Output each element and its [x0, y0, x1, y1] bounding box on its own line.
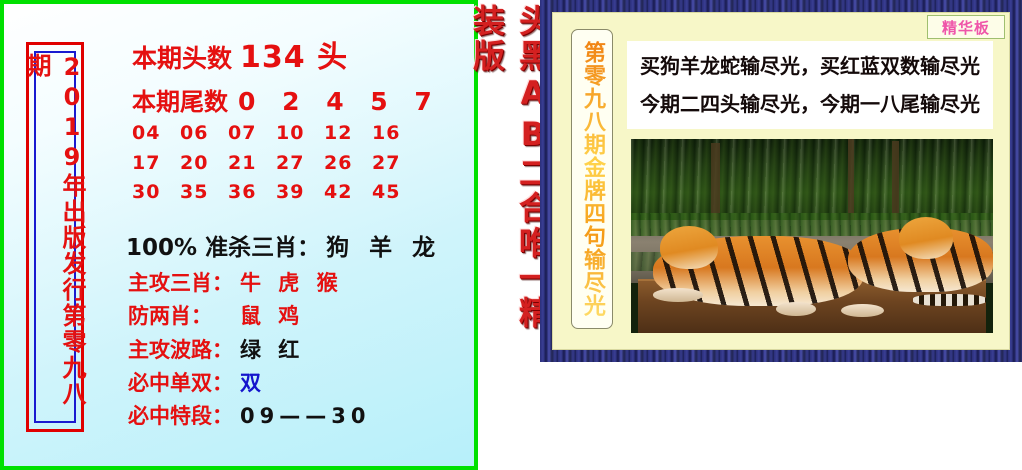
kill-three-label: 100% 准杀三肖： [126, 235, 320, 261]
number-row: 303536394245 [132, 181, 462, 203]
poster-canvas: 2019年出版发行第零九八期 本期头数134 头 本期尾数0 2 4 5 7 0… [0, 0, 1022, 470]
left-panel: 2019年出版发行第零九八期 本期头数134 头 本期尾数0 2 4 5 7 0… [0, 0, 478, 470]
tiger-paw [653, 288, 704, 302]
issue-badge-left: 2019年出版发行第零九八期 [26, 42, 84, 432]
number-cell: 06 [180, 122, 228, 144]
number-cell: 42 [324, 181, 372, 203]
watermark-text [199, 426, 469, 438]
tip-label: 主攻波路： [128, 334, 240, 364]
tip-value: 双 [240, 371, 266, 395]
number-cell: 17 [132, 152, 180, 174]
right-panel-paper: 精华板 第零九八期金牌四句输尽光 买狗羊龙蛇输尽光，买红蓝双数输尽光 今期二四头… [552, 12, 1010, 350]
kill-three-line: 100% 准杀三肖：狗 羊 龙 [126, 228, 476, 262]
right-panel: 精华板 第零九八期金牌四句输尽光 买狗羊龙蛇输尽光，买红蓝双数输尽光 今期二四头… [540, 0, 1022, 362]
tip-row-odd-even: 必中单双：双 [128, 367, 478, 397]
issue-badge-right: 第零九八期金牌四句输尽光 [571, 29, 613, 329]
tip-row-main-three: 主攻三肖：牛 虎 猴 [128, 267, 478, 297]
number-cell: 36 [228, 181, 276, 203]
issue-vertical-text-right: 第零九八期金牌四句输尽光 [572, 36, 612, 322]
number-cell: 27 [372, 152, 420, 174]
verse-line: 今期二四头输尽光，今期一八尾输尽光 [640, 85, 980, 123]
tip-row-wave: 主攻波路：绿 红 [128, 334, 478, 364]
number-cell: 21 [228, 152, 276, 174]
tree-trunk [892, 141, 899, 222]
verse-box: 买狗羊龙蛇输尽光，买红蓝双数输尽光 今期二四头输尽光，今期一八尾输尽光 [627, 41, 993, 129]
tip-value: 绿 红 [240, 338, 304, 362]
tip-label: 必中单双： [128, 367, 240, 397]
number-cell: 26 [324, 152, 372, 174]
number-cell: 20 [180, 152, 228, 174]
tip-label: 主攻三肖： [128, 267, 240, 297]
number-cell: 07 [228, 122, 276, 144]
tiger-head-left [660, 226, 718, 269]
number-row: 040607101216 [132, 122, 462, 144]
premium-badge: 精华板 [927, 15, 1005, 39]
number-cell: 39 [276, 181, 324, 203]
tail-count-label: 本期尾数 [132, 88, 228, 116]
tree-trunk [711, 143, 720, 221]
number-cell: 04 [132, 122, 180, 144]
kill-three-value: 狗 羊 龙 [320, 235, 441, 261]
number-row: 172021272627 [132, 152, 462, 174]
tree-trunk [848, 139, 854, 224]
tiger-paw [776, 302, 816, 316]
tip-value: 牛 虎 猴 [240, 271, 343, 295]
head-count-line: 本期头数134 头 [132, 32, 462, 76]
head-count-value: 134 头 [232, 40, 348, 75]
tiger-tail [913, 294, 985, 306]
tiger-head-right [899, 217, 953, 260]
number-cell: 35 [180, 181, 228, 203]
head-count-label: 本期头数 [132, 44, 232, 73]
number-cell: 16 [372, 122, 420, 144]
tiger-photo [631, 139, 993, 333]
middle-vertical-title: 头黑AB二合唯一精装版 [484, 4, 536, 334]
number-cell: 12 [324, 122, 372, 144]
number-cell: 30 [132, 181, 180, 203]
number-cell: 27 [276, 152, 324, 174]
tail-count-value: 0 2 4 5 7 [228, 87, 441, 116]
tip-row-defend-two: 防两肖：鼠 鸡 [128, 300, 478, 330]
verse-line: 买狗羊龙蛇输尽光，买红蓝双数输尽光 [640, 47, 980, 85]
tip-value: 09——30 [240, 404, 370, 428]
tail-count-line: 本期尾数0 2 4 5 7 [132, 82, 472, 117]
number-cell: 10 [276, 122, 324, 144]
number-cell: 45 [372, 181, 420, 203]
issue-vertical-text: 2019年出版发行第零九八期 [29, 53, 81, 421]
tip-label: 防两肖： [128, 300, 240, 330]
tip-value: 鼠 鸡 [240, 304, 304, 328]
